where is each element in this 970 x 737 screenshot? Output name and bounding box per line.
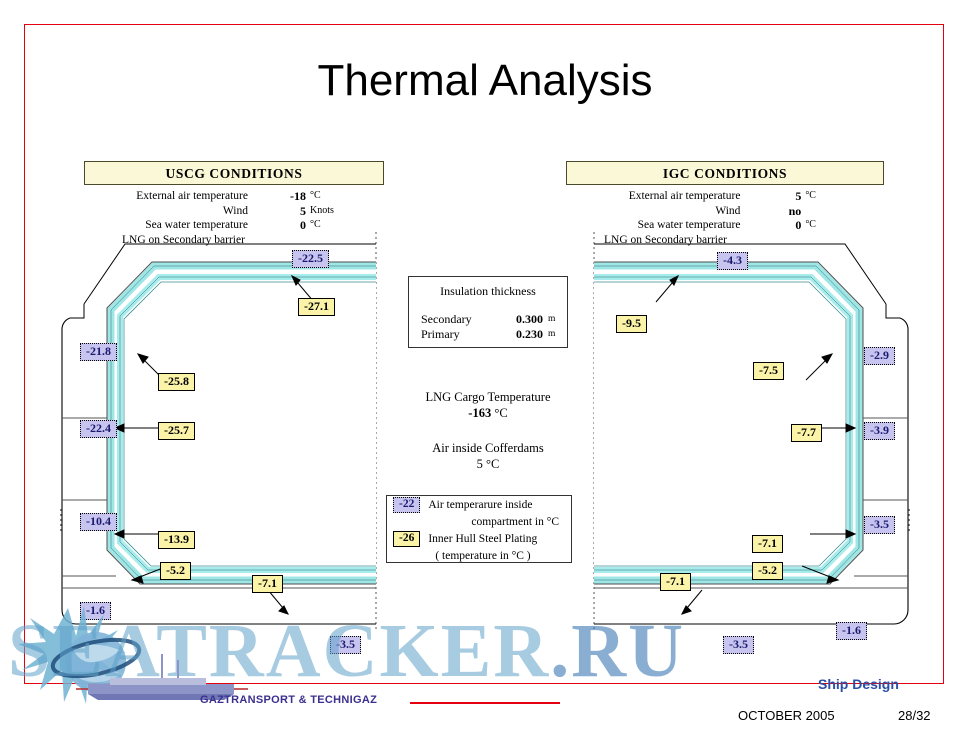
temp-label-steel: -25.8 [158, 373, 195, 391]
legend-air-chip: -22 [393, 497, 420, 513]
insulation-primary-value: 0.230 [495, 327, 543, 342]
legend-steel-text: Inner Hull Steel Plating [420, 533, 537, 545]
row-label: Wind [84, 204, 258, 219]
insulation-title: Insulation thickness [409, 277, 567, 299]
insulation-secondary-unit: m [543, 312, 555, 327]
temp-label-steel: -13.9 [158, 531, 195, 549]
uscg-tank-section-drawing [60, 232, 390, 652]
temp-label-steel: -25.7 [158, 422, 195, 440]
legend-air-text-2: compartment in °C [463, 516, 559, 528]
temp-label-steel: -27.1 [298, 298, 335, 316]
ship-design-label: Ship Design [818, 676, 899, 692]
temp-label-air: -21.8 [80, 343, 117, 361]
temp-label-air: -3.5 [864, 516, 895, 534]
temp-label-air: -3.9 [864, 422, 895, 440]
row-unit [801, 204, 888, 219]
legend-steel-chip: -26 [393, 531, 420, 547]
row-unit: °C [306, 189, 388, 204]
legend-air-row-2: compartment in °C [387, 513, 571, 530]
footer-page-number: 28/32 [898, 708, 931, 723]
cofferdam-label: Air inside Cofferdams [398, 440, 578, 456]
legend-air-row: -22 Air temperarure inside [387, 496, 571, 513]
igc-tank-section-drawing [580, 232, 910, 652]
lng-cargo-label: LNG Cargo Temperature [398, 389, 578, 405]
temp-label-air: -22.5 [292, 250, 329, 268]
temp-label-steel: -7.1 [252, 575, 283, 593]
table-row: Sea water temperature 0 °C [566, 218, 884, 233]
temp-label-steel: -7.7 [791, 424, 822, 442]
row-value: 5 [258, 204, 306, 219]
insulation-secondary-label: Secondary [421, 312, 495, 327]
legend-air-text: Air temperarure inside [420, 499, 532, 511]
temp-label-air: -3.5 [723, 636, 754, 654]
row-value: 0 [258, 218, 306, 233]
insulation-primary-row: Primary 0.230 m [421, 327, 567, 342]
temp-label-air: -2.9 [864, 347, 895, 365]
slide-canvas: Thermal Analysis USCG CONDITIONS Externa… [0, 0, 970, 732]
temp-label-air: -22.4 [80, 420, 117, 438]
page-title: Thermal Analysis [0, 56, 970, 106]
cofferdam-value: 5 [477, 457, 483, 471]
row-unit: °C [801, 189, 888, 204]
footer-date: OCTOBER 2005 [738, 708, 835, 723]
legend-note: ( temperature in °C ) [427, 550, 530, 562]
insulation-secondary-row: Secondary 0.300 m [421, 312, 567, 327]
table-row: External air temperature 5 °C [566, 189, 884, 204]
table-row: External air temperature -18 °C [84, 189, 384, 204]
row-value: 0 [750, 218, 801, 233]
row-value: 5 [750, 189, 801, 204]
temp-label-steel: -5.2 [160, 562, 191, 580]
temp-label-air: -10.4 [80, 513, 117, 531]
lng-cargo-unit: °C [494, 406, 507, 420]
table-row: Wind no [566, 204, 884, 219]
igc-conditions-header: IGC CONDITIONS [566, 161, 884, 185]
row-label: Sea water temperature [84, 218, 258, 233]
legend-note-row: ( temperature in °C ) [387, 547, 571, 564]
lng-cargo-temperature-note: LNG Cargo Temperature -163 °C [398, 389, 578, 421]
insulation-secondary-value: 0.300 [495, 312, 543, 327]
temp-label-steel: -9.5 [616, 315, 647, 333]
temp-label-steel: -7.1 [660, 573, 691, 591]
table-row: Sea water temperature 0 °C [84, 218, 384, 233]
row-unit: °C [306, 218, 388, 233]
cofferdam-temperature-note: Air inside Cofferdams 5 °C [398, 440, 578, 472]
footer-rule [410, 702, 560, 704]
temp-label-steel: -7.1 [752, 535, 783, 553]
legend-box: -22 Air temperarure inside compartment i… [386, 495, 572, 563]
temp-label-air: -1.6 [80, 602, 111, 620]
temp-label-air: -4.3 [717, 252, 748, 270]
row-unit: °C [801, 218, 888, 233]
temp-label-air: -1.6 [836, 622, 867, 640]
row-label: External air temperature [566, 189, 750, 204]
temp-label-steel: -5.2 [752, 562, 783, 580]
uscg-conditions-header: USCG CONDITIONS [84, 161, 384, 185]
row-label: Wind [566, 204, 750, 219]
lng-cargo-value: -163 [468, 406, 491, 420]
row-label: Sea water temperature [566, 218, 750, 233]
legend-steel-row: -26 Inner Hull Steel Plating [387, 530, 571, 547]
temp-label-steel: -7.5 [753, 362, 784, 380]
row-unit: Knots [306, 204, 388, 219]
insulation-primary-label: Primary [421, 327, 495, 342]
table-row: Wind 5 Knots [84, 204, 384, 219]
cofferdam-unit: °C [486, 457, 499, 471]
insulation-thickness-box: Insulation thickness Secondary 0.300 m P… [408, 276, 568, 348]
row-label: External air temperature [84, 189, 258, 204]
gtt-company-name: GAZTRANSPORT & TECHNIGAZ [200, 694, 377, 706]
row-value: -18 [258, 189, 306, 204]
row-value: no [750, 204, 801, 219]
insulation-primary-unit: m [543, 327, 555, 342]
